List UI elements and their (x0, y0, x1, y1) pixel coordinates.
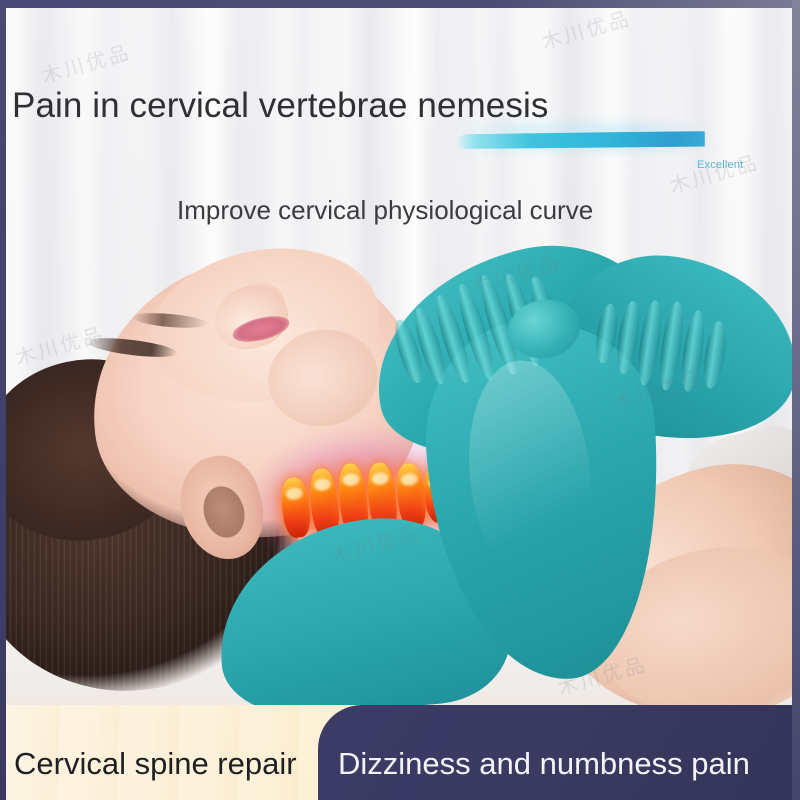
page-subtitle: Improve cervical physiological curve (177, 195, 593, 226)
massage-ridge (701, 320, 729, 390)
product-ad-image: Excellent Pain in cervical vertebrae nem… (0, 0, 800, 800)
frame-border-top (0, 0, 800, 8)
frame-border-left (0, 0, 6, 800)
bottom-banner-left-label: Cervical spine repair (14, 746, 297, 782)
bottom-banner-right: Dizziness and numbness pain (318, 705, 800, 800)
bottom-banner-right-label: Dizziness and numbness pain (338, 746, 750, 782)
frame-border-right (792, 0, 800, 800)
page-title: Pain in cervical vertebrae nemesis (12, 86, 548, 126)
vertebra-segment (279, 476, 312, 538)
